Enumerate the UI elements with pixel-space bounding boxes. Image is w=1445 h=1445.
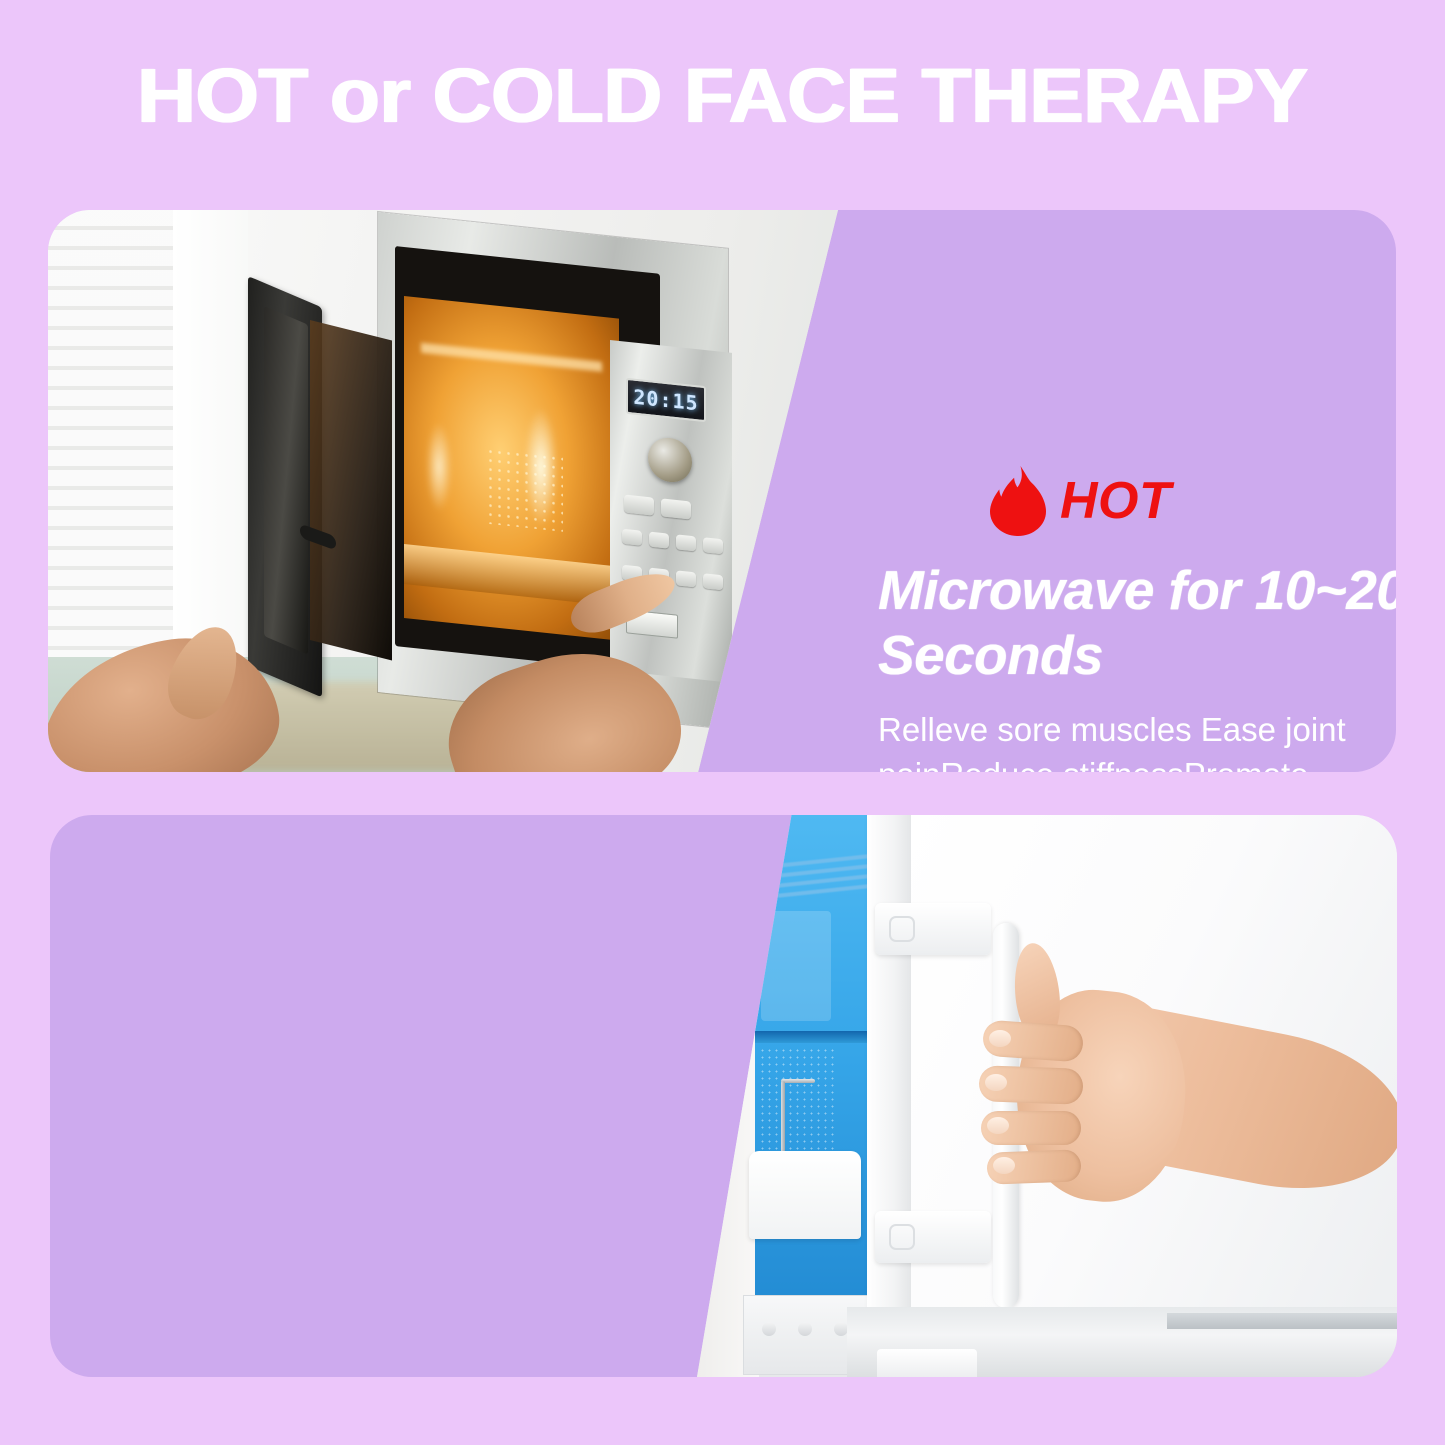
- interior-wave-detail: [777, 848, 869, 900]
- cold-section-panel: COLD Freezer for a Few Hours or Overnigh…: [50, 815, 1397, 1377]
- fingernail: [987, 1117, 1009, 1134]
- microwave-button: [622, 529, 642, 546]
- cavity-light-bar: [421, 343, 602, 372]
- flame-icon: [990, 466, 1046, 536]
- interior-mesh: [759, 1047, 837, 1167]
- hot-body-text: Relleve sore muscles Ease joint painRedu…: [878, 708, 1396, 772]
- freezer-photo: [697, 815, 1397, 1377]
- microwave-photo: 20:15: [48, 210, 838, 772]
- hot-headline: Microwave for 10~20 Seconds: [878, 558, 1396, 688]
- interior-rod: [781, 1081, 785, 1157]
- microwave-button: [661, 498, 691, 519]
- fridge-left-wall: [697, 815, 759, 1377]
- interior-shelf: [755, 1031, 885, 1043]
- microwave-button: [649, 532, 669, 549]
- compartment-knob: [762, 1322, 776, 1336]
- fridge-base-strip: [1167, 1313, 1397, 1329]
- compartment-knob: [798, 1322, 812, 1336]
- interior-panel: [761, 911, 831, 1021]
- freezer-door-edge: [867, 815, 917, 1377]
- door-hinge-top: [875, 903, 991, 955]
- freezer-scene: [697, 815, 1397, 1377]
- freezer-interior: [755, 815, 885, 1360]
- fingernail: [993, 1157, 1015, 1174]
- microwave-button: [703, 573, 723, 590]
- microwave-button: [676, 534, 696, 551]
- hinge-dot: [889, 1224, 915, 1250]
- fridge-base-box: [877, 1349, 977, 1377]
- interior-rod-top: [781, 1079, 815, 1083]
- microwave-button: [676, 570, 696, 587]
- microwave-door-inner: [264, 306, 308, 655]
- door-hinge-bottom: [875, 1211, 991, 1263]
- microwave-scene: 20:15: [48, 210, 838, 772]
- hot-badge-label: HOT: [1060, 475, 1171, 527]
- fingernail: [985, 1074, 1007, 1091]
- hot-section-panel: 20:15: [48, 210, 1396, 772]
- freezer-drawer: [749, 1151, 861, 1239]
- page-title: HOT or COLD FACE THERAPY: [0, 58, 1445, 135]
- microwave-button: [703, 537, 723, 554]
- cavity-glow-secondary: [426, 421, 452, 514]
- compartment-knob: [834, 1322, 848, 1336]
- microwave-cavity: [404, 296, 619, 641]
- hinge-dot: [889, 916, 915, 942]
- fingernail: [989, 1030, 1011, 1047]
- microwave-display-value: 20:15: [633, 385, 698, 416]
- microwave-door-glass: [310, 320, 392, 660]
- hot-badge: HOT: [878, 466, 1396, 536]
- hot-content: HOT Microwave for 10~20 Seconds Relleve …: [878, 466, 1396, 772]
- cavity-glow: [524, 405, 558, 529]
- microwave-button: [624, 494, 654, 515]
